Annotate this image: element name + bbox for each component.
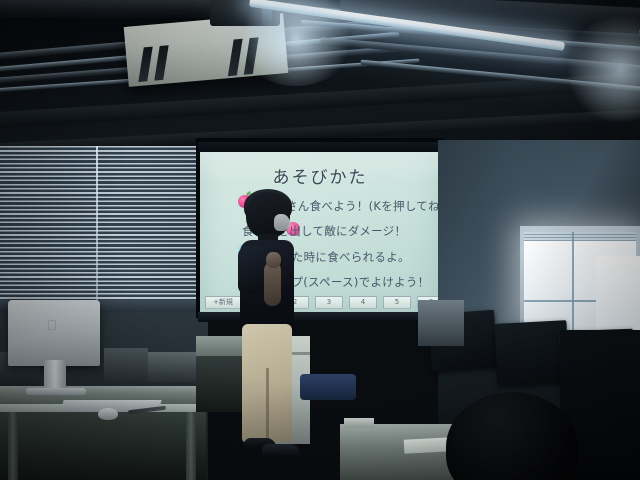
desk-leg [8,412,18,480]
mouse[interactable] [98,408,118,420]
imac-foot-right [344,418,374,428]
pants-crease [266,368,269,442]
presenter-hand [266,252,281,268]
imac-stand-neck [44,360,66,390]
tab-3[interactable]: 3 [315,296,343,309]
slide-title: あそびかた [200,163,440,188]
window-glare [596,256,640,334]
ac-vent-slat [154,45,168,80]
window-mullion [572,232,574,330]
window-blind [524,232,636,241]
tab-5[interactable]: 5 [383,296,411,309]
imac-stand-foot [26,388,86,395]
blind-divider [96,146,98,311]
imac-computer[interactable] [8,300,100,366]
standing-presenter [228,192,304,480]
left-desk-body [0,412,206,480]
desktop-tower[interactable] [104,348,148,382]
face-mask [274,214,290,231]
blue-bag [300,374,356,400]
window-blinds-left [0,146,206,311]
ceiling-area [0,0,640,152]
presenter-sleeve [238,246,264,294]
presenter-shoe [262,444,300,457]
tab-4[interactable]: 4 [349,296,377,309]
slide-line-1: さん食べよう！(Kを押してね)、 [286,198,456,214]
monitor-right-2[interactable] [494,320,569,386]
ac-vent-slat [138,47,152,82]
apple-logo-icon:  [46,318,58,332]
right-cabinet [418,300,464,346]
presenter-arm [264,262,281,306]
classroom-photo-scene: あそびかた さん食べよう！(Kを押してね)、 食べ を出して敵にダメージ！ った… [0,0,640,480]
desk-leg [186,412,196,480]
